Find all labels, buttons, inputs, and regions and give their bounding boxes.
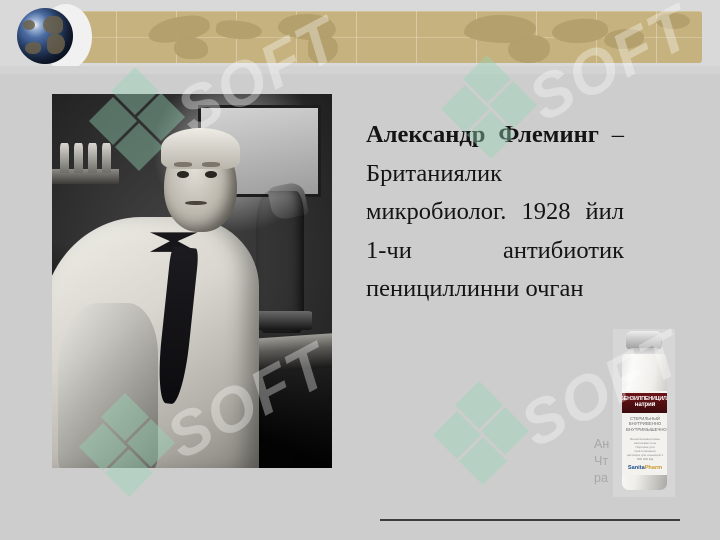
vial-label-fineprint: Бензилпенициллина натриевая соль Порошок…: [626, 437, 664, 462]
subject-name-bold-2: Флеминг: [498, 121, 599, 148]
subject-name-bold-1: Александр: [366, 121, 485, 148]
banner-map-graphic: [56, 11, 702, 63]
photo-bottle: [74, 143, 83, 173]
fleming-photo-image: [52, 94, 332, 468]
vial-label-fine-2: Порошок для приготовления: [626, 445, 664, 453]
dash-separator: –: [612, 121, 624, 148]
penicillin-vial-image: БЕНЗИЛПЕНИЦИЛЛИН натрий СТЕРИЛЬНЫЙ ВНУТР…: [613, 329, 675, 497]
body-line-4: микробиолог.: [366, 198, 506, 225]
vial-label-band: БЕНЗИЛПЕНИЦИЛЛИН натрий: [622, 393, 667, 413]
vial-label-im: ВНУТРИМЫШЕЧНО: [626, 427, 664, 432]
portrait-brow: [202, 162, 220, 166]
vial-label: БЕНЗИЛПЕНИЦИЛЛИН натрий СТЕРИЛЬНЫЙ ВНУТР…: [622, 391, 667, 475]
vial-label-salt: натрий: [622, 402, 667, 408]
portrait-hair: [161, 128, 239, 169]
body-line-7: пенициллинни: [366, 275, 519, 302]
body-paragraph: Александр Флеминг – Британиялик микробио…: [366, 116, 624, 309]
portrait-eye: [205, 171, 217, 178]
vial-label-brand: SanitaPharm: [625, 465, 665, 471]
vial-label-fine-1: Бензилпенициллина натриевая соль: [626, 437, 664, 445]
vial-brand-primary: Sanita: [628, 465, 645, 471]
slide-root: Александр Флеминг – Британиялик микробио…: [0, 0, 720, 540]
lab-coat-shadow: [58, 303, 159, 468]
body-line-6: антибиотик: [503, 237, 624, 264]
body-line-3: Британиялик: [366, 160, 502, 187]
photo-bottle: [102, 143, 111, 173]
vial-brand-secondary: Pharm: [645, 465, 662, 471]
vial-label-fine-3: раствора для инъекций 1 000 000 ЕД: [626, 453, 664, 461]
body-line-8: очган: [525, 275, 583, 302]
globe-icon: [17, 8, 73, 64]
vial-label-drug-name: БЕНЗИЛПЕНИЦИЛЛИН: [622, 393, 667, 402]
photo-bottle: [88, 143, 97, 173]
slide-body-text: Александр Флеминг – Британиялик микробио…: [366, 116, 624, 309]
portrait-brow: [174, 162, 192, 166]
world-map-banner: [56, 11, 702, 63]
fleming-photo: [52, 94, 332, 468]
vial-cap: [626, 331, 662, 349]
slide-header: [0, 0, 720, 74]
photo-bottle: [60, 143, 69, 173]
vial-label-admin: СТЕРИЛЬНЫЙ ВНУТРИВЕННО ВНУТРИМЫШЕЧНО: [626, 416, 664, 432]
footer-divider: [380, 519, 680, 521]
portrait-eye: [177, 171, 189, 178]
microscope-stage: [251, 311, 313, 330]
